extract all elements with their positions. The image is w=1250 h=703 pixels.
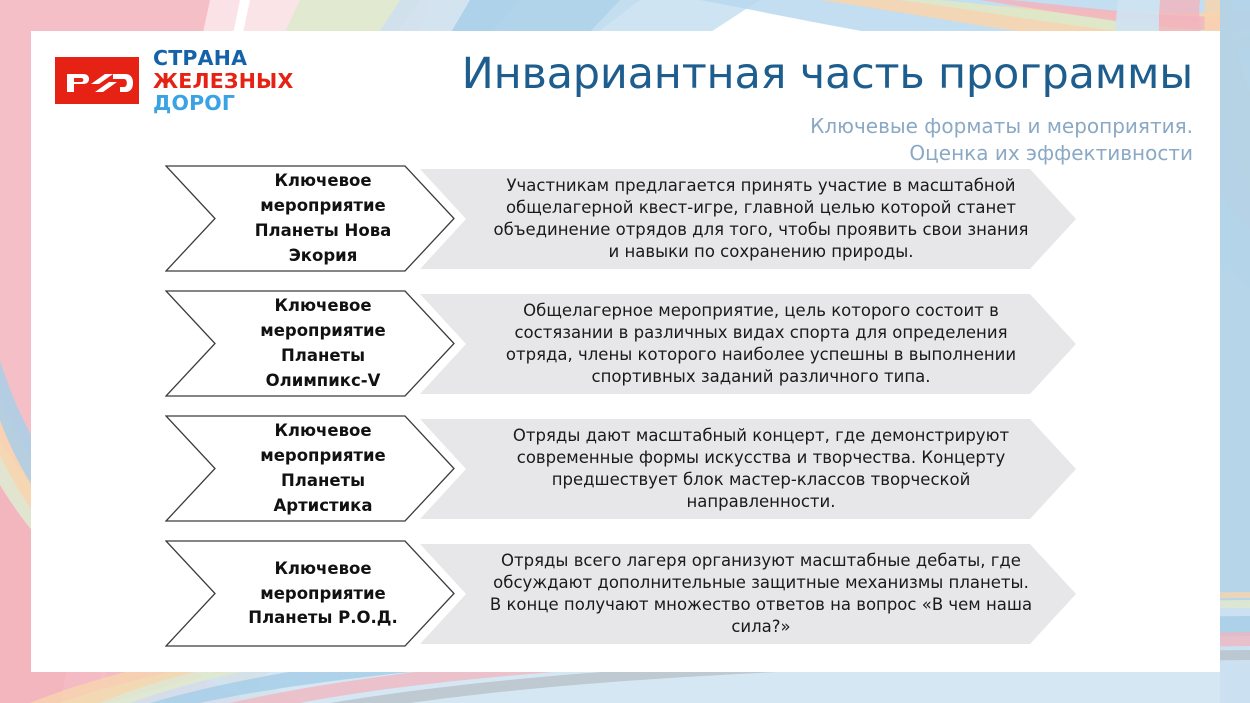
program-row: Отряды всего лагеря организуют масштабны… — [31, 540, 1220, 647]
description-band: Общелагерное мероприятие, цель которого … — [420, 294, 1076, 394]
label-line-3: Планеты — [281, 472, 365, 490]
label-line-4: Артистика — [274, 497, 373, 515]
label-text: Ключевое мероприятие Планеты Артистика — [217, 415, 429, 522]
logo-line-1: СТРАНА — [153, 48, 294, 69]
label-chevron: Ключевое мероприятие Планеты Нова Экория — [165, 165, 455, 272]
description-band: Участникам предлагается принять участие … — [420, 169, 1076, 269]
label-line-3: Планеты Нова — [255, 222, 392, 240]
subtitle-line-1: Ключевые форматы и мероприятия. — [373, 113, 1193, 140]
label-line-2: мероприятие — [260, 447, 386, 465]
description-band: Отряды всего лагеря организуют масштабны… — [420, 544, 1076, 644]
label-line-1: Ключевое — [274, 172, 371, 190]
label-chevron: Ключевое мероприятие Планеты Артистика — [165, 415, 455, 522]
label-line-2: мероприятие — [260, 585, 386, 603]
program-row: Общелагерное мероприятие, цель которого … — [31, 290, 1220, 397]
description-text: Общелагерное мероприятие, цель которого … — [489, 300, 1034, 387]
label-text: Ключевое мероприятие Планеты Нова Экория — [217, 165, 429, 272]
label-text: Ключевое мероприятие Планеты Олимпикс-V — [217, 290, 429, 397]
label-line-4: Экория — [289, 247, 358, 265]
program-rows: Участникам предлагается принять участие … — [31, 165, 1220, 665]
logo-wordmark: СТРАНА ЖЕЛЕЗНЫХ ДОРОГ — [153, 48, 294, 114]
page-subtitle: Ключевые форматы и мероприятия. Оценка и… — [373, 113, 1193, 167]
label-line-1: Ключевое — [274, 422, 371, 440]
program-row: Отряды дают масштабный концерт, где демо… — [31, 415, 1220, 522]
label-line-1: Ключевое — [274, 297, 371, 315]
label-chevron: Ключевое мероприятие Планеты Р.О.Д. — [165, 540, 455, 647]
label-chevron: Ключевое мероприятие Планеты Олимпикс-V — [165, 290, 455, 397]
label-line-4: Олимпикс-V — [266, 372, 381, 390]
rzd-logo-icon — [55, 57, 139, 104]
label-line-2: мероприятие — [260, 197, 386, 215]
description-text: Отряды всего лагеря организуют масштабны… — [489, 550, 1034, 637]
label-line-3: Планеты Р.О.Д. — [248, 609, 397, 627]
brand-logo: СТРАНА ЖЕЛЕЗНЫХ ДОРОГ — [55, 48, 294, 114]
description-text: Отряды дают масштабный концерт, где демо… — [489, 425, 1034, 512]
subtitle-line-2: Оценка их эффективности — [373, 140, 1193, 167]
content-card: СТРАНА ЖЕЛЕЗНЫХ ДОРОГ Инвариантная часть… — [31, 31, 1220, 672]
program-row: Участникам предлагается принять участие … — [31, 165, 1220, 272]
logo-line-3: ДОРОГ — [153, 93, 294, 114]
label-line-3: Планеты — [281, 347, 365, 365]
page-title: Инвариантная часть программы — [373, 49, 1193, 99]
description-band: Отряды дают масштабный концерт, где демо… — [420, 419, 1076, 519]
logo-line-2: ЖЕЛЕЗНЫХ — [153, 71, 294, 92]
description-text: Участникам предлагается принять участие … — [489, 175, 1034, 262]
label-line-1: Ключевое — [274, 560, 371, 578]
label-text: Ключевое мероприятие Планеты Р.О.Д. — [217, 540, 429, 647]
label-line-2: мероприятие — [260, 322, 386, 340]
slide: СТРАНА ЖЕЛЕЗНЫХ ДОРОГ Инвариантная часть… — [0, 0, 1250, 703]
